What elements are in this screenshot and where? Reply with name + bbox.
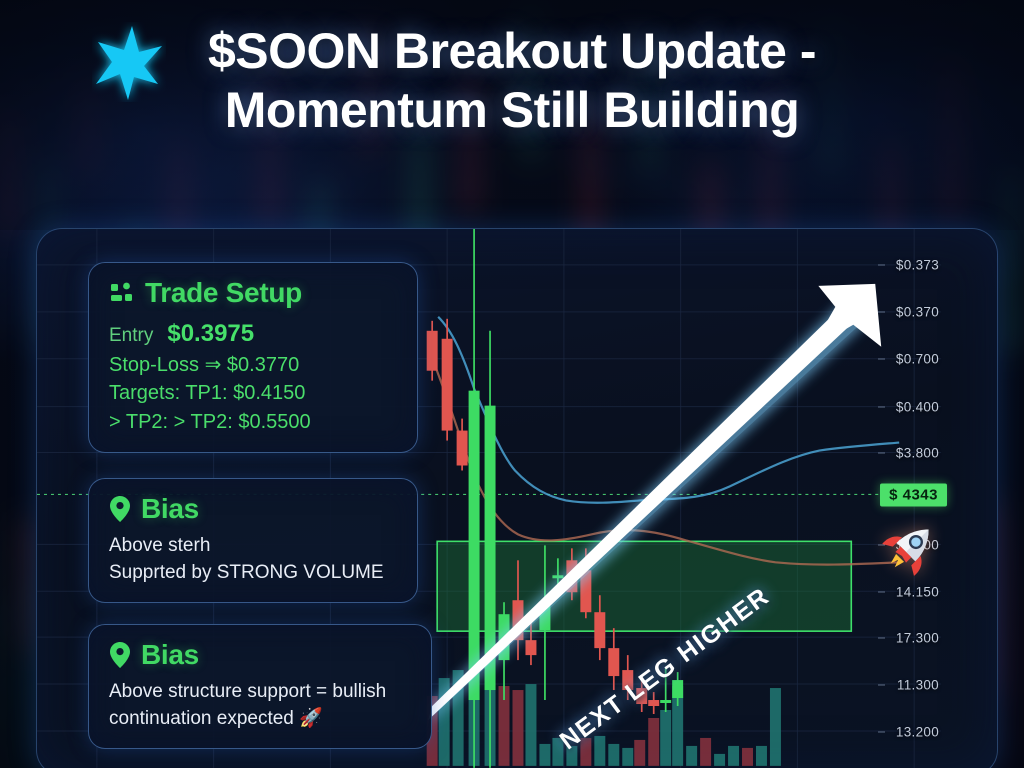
volume-bar <box>566 746 577 766</box>
volume-bar <box>686 746 697 766</box>
price-tick-label-1: $0.370 <box>896 305 939 320</box>
volume-bar <box>594 736 605 766</box>
candle-body <box>442 339 453 431</box>
location-pin-icon <box>109 495 131 523</box>
current-price-badge: $ 4343 <box>880 484 947 507</box>
candle-body <box>608 648 619 676</box>
trade-setup-title-row: Trade Setup <box>109 277 397 309</box>
volume-bar <box>770 688 781 766</box>
price-tick-mark <box>878 453 885 454</box>
price-tick-mark <box>878 359 885 360</box>
volume-bar <box>714 754 725 766</box>
price-tick-mark <box>878 732 885 733</box>
bias-2-title-row: Bias <box>109 639 411 671</box>
bias-card-2[interactable]: Bias Above structure support = bullish c… <box>88 624 432 749</box>
price-tick-label-9: 13.200 <box>896 725 939 740</box>
bias-card-1[interactable]: Bias Above sterh Supprted by STRONG VOLU… <box>88 478 418 603</box>
bar-chart-icon <box>109 280 135 306</box>
candle-body <box>636 688 647 704</box>
volume-bar <box>453 670 464 766</box>
candle-body <box>469 391 480 700</box>
volume-bar <box>660 710 671 766</box>
volume-bar <box>756 746 767 766</box>
location-pin-icon <box>109 641 131 669</box>
price-tick-mark <box>878 265 885 266</box>
entry-label: Entry <box>109 323 153 350</box>
price-tick-mark <box>878 685 885 686</box>
candle-body <box>648 700 659 706</box>
trade-setup-card[interactable]: Trade Setup Entry $0.3975 Stop-Loss ⇒ $0… <box>88 262 418 453</box>
stop-loss-row: Stop-Loss ⇒ $0.3770 <box>109 351 397 379</box>
price-tick-label-0: $0.373 <box>896 258 939 273</box>
volume-bar <box>608 744 619 766</box>
candle-body <box>427 331 438 371</box>
volume-bar <box>648 718 659 766</box>
price-tick-label-6: 14.150 <box>896 585 939 600</box>
volume-bar <box>622 748 633 766</box>
volume-bar <box>552 738 563 766</box>
candle-body <box>457 431 468 466</box>
target-1-row: Targets: TP1: $0.4150 <box>109 379 397 407</box>
candle-body <box>660 700 671 703</box>
candle-body <box>552 575 563 578</box>
candle-body <box>580 570 591 612</box>
volume-bar <box>580 738 591 766</box>
trade-setup-title: Trade Setup <box>145 277 302 309</box>
bias-1-title: Bias <box>141 493 199 525</box>
volume-bar <box>539 744 550 766</box>
moving-average-slow <box>432 359 899 565</box>
bias-2-body: Above structure support = bullish contin… <box>109 679 411 732</box>
bias-1-body: Above sterh Supprted by STRONG VOLUME <box>109 533 397 586</box>
candle-body <box>485 406 496 690</box>
entry-row: Entry $0.3975 <box>109 317 397 351</box>
price-tick-label-2: $0.700 <box>896 352 939 367</box>
price-tick-label-4: $3.800 <box>896 446 939 461</box>
candle-body <box>539 605 550 630</box>
candle-body <box>622 670 633 690</box>
volume-bar <box>513 690 524 766</box>
price-tick-mark <box>878 592 885 593</box>
volume-bar <box>525 684 536 766</box>
sparkle-star-icon <box>92 22 166 102</box>
candle-body <box>672 680 683 698</box>
target-2-row: > TP2: > TP2: $0.5500 <box>109 408 397 436</box>
trade-setup-rows: Entry $0.3975 Stop-Loss ⇒ $0.3770 Target… <box>109 317 397 436</box>
bias-2-title: Bias <box>141 639 199 671</box>
price-tick-mark <box>878 638 885 639</box>
candle-body <box>499 614 510 660</box>
bias-1-line-1: Above sterh <box>109 533 397 560</box>
price-tick-label-7: 17.300 <box>896 631 939 646</box>
price-tick-label-3: $0.400 <box>896 400 939 415</box>
price-tick-mark <box>878 407 885 408</box>
candle-body <box>513 600 524 640</box>
bias-2-line-2: continuation expected 🚀 <box>109 706 411 733</box>
candle-body <box>525 640 536 655</box>
price-axis: $0.373$0.370$0.700$0.400$3.800$6.00014.1… <box>879 229 997 768</box>
bias-2-line-1: Above structure support = bullish <box>109 679 411 706</box>
volume-bar <box>700 738 711 766</box>
headline-line-1: $SOON Breakout Update - <box>56 22 968 81</box>
volume-bar <box>439 678 450 766</box>
volume-bar <box>634 740 645 766</box>
price-tick-label-8: 11.300 <box>897 678 939 693</box>
candle-body <box>594 612 605 648</box>
candle-body <box>566 560 577 592</box>
volume-bar <box>728 746 739 766</box>
price-tick-mark <box>878 545 885 546</box>
price-tick-label-5: $6.000 <box>896 538 939 553</box>
headline-line-2: Momentum Still Building <box>56 81 968 140</box>
entry-value: $0.3975 <box>167 317 254 351</box>
bias-1-line-2: Supprted by STRONG VOLUME <box>109 560 397 587</box>
moving-average-fast <box>438 317 899 503</box>
price-tick-mark <box>878 312 885 313</box>
volume-bar <box>742 748 753 766</box>
bias-1-title-row: Bias <box>109 493 397 525</box>
